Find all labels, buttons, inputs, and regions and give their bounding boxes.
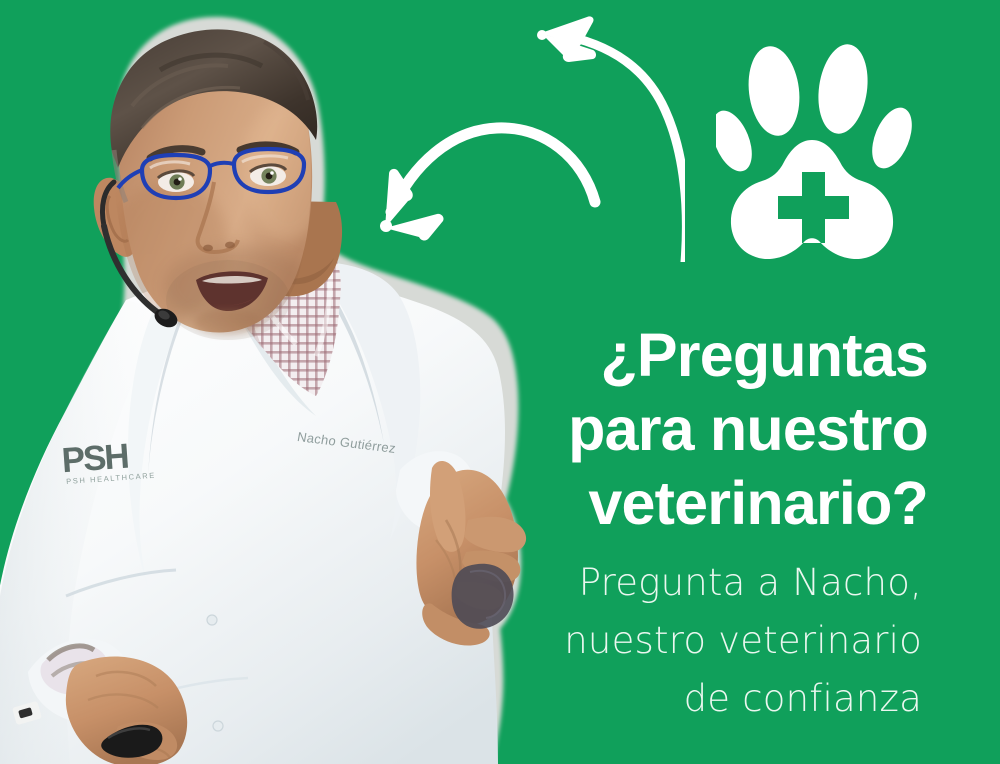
decorative-arrows bbox=[355, 12, 685, 262]
headline-line-1: ¿Preguntas bbox=[498, 318, 928, 392]
subtitle-line-1: Pregunta a Nacho, bbox=[492, 554, 922, 612]
subtitle-line-2: nuestro veterinario bbox=[492, 612, 922, 670]
headline-line-2: para nuestro bbox=[498, 392, 928, 466]
subtitle: Pregunta a Nacho, nuestro veterinario de… bbox=[492, 554, 922, 728]
headline-line-3: veterinario? bbox=[498, 466, 928, 540]
paw-with-medical-cross-icon bbox=[716, 28, 912, 276]
poster-canvas: PSH PSH HEALTHCARE Nacho Gutiérrez bbox=[0, 0, 1000, 764]
subtitle-line-3: de confianza bbox=[492, 670, 922, 728]
hand-drawn-arrow-down-left-icon bbox=[380, 128, 595, 241]
hand-drawn-arrow-up-left-icon bbox=[537, 16, 685, 262]
page-title: ¿Preguntas para nuestro veterinario? bbox=[498, 318, 928, 540]
